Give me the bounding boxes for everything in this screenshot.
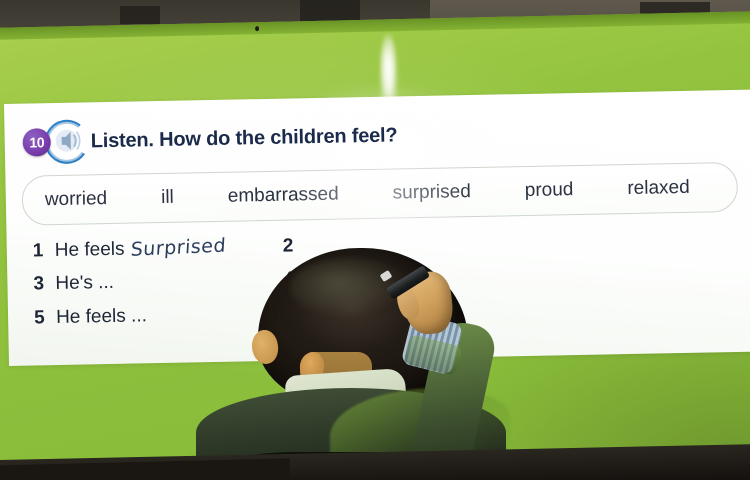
word-bank-item[interactable]: relaxed xyxy=(627,177,690,200)
question-number: 2 xyxy=(283,235,305,257)
frame-screw xyxy=(255,26,259,31)
word-bank-item[interactable]: surprised xyxy=(392,181,471,204)
question-prompt: He's ... xyxy=(55,272,114,295)
question-number: 1 xyxy=(33,240,55,262)
handwritten-answer: Surprised xyxy=(130,235,227,261)
question-number: 5 xyxy=(34,307,56,329)
word-bank-item[interactable]: embarrassed xyxy=(228,184,339,208)
question-prompt: He feels ... xyxy=(56,305,147,329)
question-item-3[interactable]: 3 He's ... xyxy=(33,269,283,296)
word-bank-item[interactable]: ill xyxy=(161,187,174,209)
word-bank: worried ill embarrassed surprised proud … xyxy=(21,162,738,226)
word-bank-item[interactable]: worried xyxy=(45,188,108,211)
question-item-5[interactable]: 5 He feels ... xyxy=(34,303,284,330)
question-item-2[interactable]: 2 xyxy=(283,235,305,257)
task-instruction: Listen. How do the children feel? xyxy=(91,124,398,153)
question-item-1[interactable]: 1 He feels Surprised xyxy=(33,235,283,263)
classroom-projection-scene: 10 Listen. How do the children feel? wor… xyxy=(0,0,750,480)
question-number: 3 xyxy=(33,273,55,295)
exercise-header: 10 Listen. How do the children feel? xyxy=(22,112,398,165)
wall-object-left xyxy=(120,6,160,24)
projector-glare-hotspot xyxy=(380,34,396,94)
word-bank-item[interactable]: proud xyxy=(525,179,574,202)
question-prompt: He feels xyxy=(55,239,125,262)
